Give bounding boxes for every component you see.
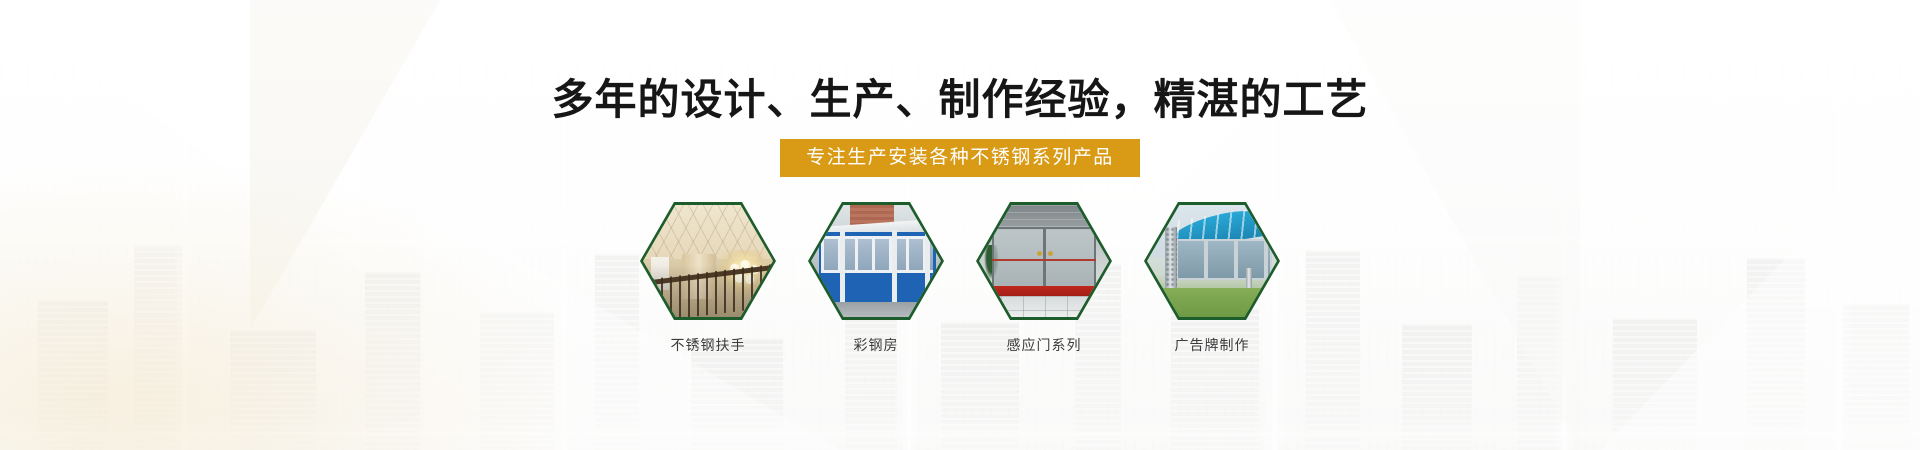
hexagon-frame [1144, 202, 1280, 320]
hexagon-image-clip [811, 205, 941, 317]
product-card-label: 不锈钢扶手 [671, 338, 746, 354]
product-card-label: 彩钢房 [854, 338, 899, 354]
billboard-signage-photo [1147, 205, 1277, 317]
hexagon-image-clip [979, 205, 1109, 317]
product-card-label: 广告牌制作 [1175, 338, 1250, 354]
hexagon-frame [808, 202, 944, 320]
product-card-label: 感应门系列 [1007, 338, 1082, 354]
product-card-prefab-house[interactable]: 彩钢房 [808, 202, 944, 354]
banner-headline: 多年的设计、生产、制作经验，精湛的工艺 [0, 76, 1920, 124]
product-card-handrail[interactable]: 不锈钢扶手 [640, 202, 776, 354]
color-steel-prefab-house-photo [811, 205, 941, 317]
hexagon-image-clip [1147, 205, 1277, 317]
stainless-steel-handrail-photo [643, 205, 773, 317]
hexagon-image-clip [643, 205, 773, 317]
promo-banner: 多年的设计、生产、制作经验，精湛的工艺 专注生产安装各种不锈钢系列产品 [0, 0, 1920, 450]
automatic-sensor-door-photo [979, 205, 1109, 317]
hexagon-frame [976, 202, 1112, 320]
product-card-row: 不锈钢扶手 [0, 202, 1920, 354]
product-card-billboard[interactable]: 广告牌制作 [1144, 202, 1280, 354]
banner-content: 多年的设计、生产、制作经验，精湛的工艺 专注生产安装各种不锈钢系列产品 [0, 0, 1920, 450]
banner-badge-container: 专注生产安装各种不锈钢系列产品 [0, 139, 1920, 177]
hexagon-frame [640, 202, 776, 320]
product-card-sensor-door[interactable]: 感应门系列 [976, 202, 1112, 354]
banner-subtitle-badge: 专注生产安装各种不锈钢系列产品 [780, 139, 1140, 177]
